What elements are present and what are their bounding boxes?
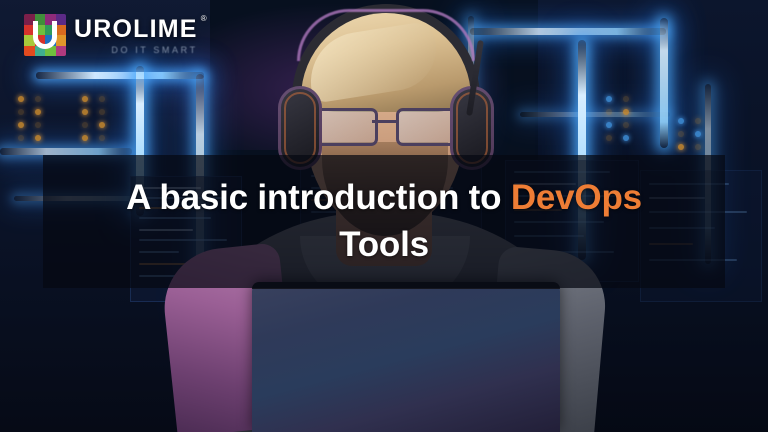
headline-line-1-prefix: A basic introduction to [126, 178, 511, 217]
headline-accent-devops: DevOps [511, 178, 642, 217]
logo-wordmark: UROLIME® [74, 17, 198, 42]
eyeglasses [306, 108, 464, 142]
brand-logo[interactable]: UROLIME® Do IT Smart [24, 14, 198, 56]
laptop-lid [252, 282, 560, 432]
headphone-headband [292, 4, 480, 100]
logo-tagline: Do IT Smart [111, 45, 197, 55]
headline-line-1: A basic introduction to DevOps [126, 175, 642, 221]
registered-trademark-icon: ® [201, 15, 207, 23]
urolime-mark-icon [24, 14, 66, 56]
logo-text: UROLIME® Do IT Smart [74, 15, 198, 55]
eyeglass-bridge [372, 120, 396, 123]
logo-wordmark-text: UROLIME [74, 15, 198, 43]
article-banner: A basic introduction to DevOps Tools URO… [0, 0, 768, 432]
page-title: A basic introduction to DevOps Tools [43, 155, 725, 288]
headline-line-2: Tools [339, 222, 429, 268]
letter-u-glyph [33, 21, 57, 49]
